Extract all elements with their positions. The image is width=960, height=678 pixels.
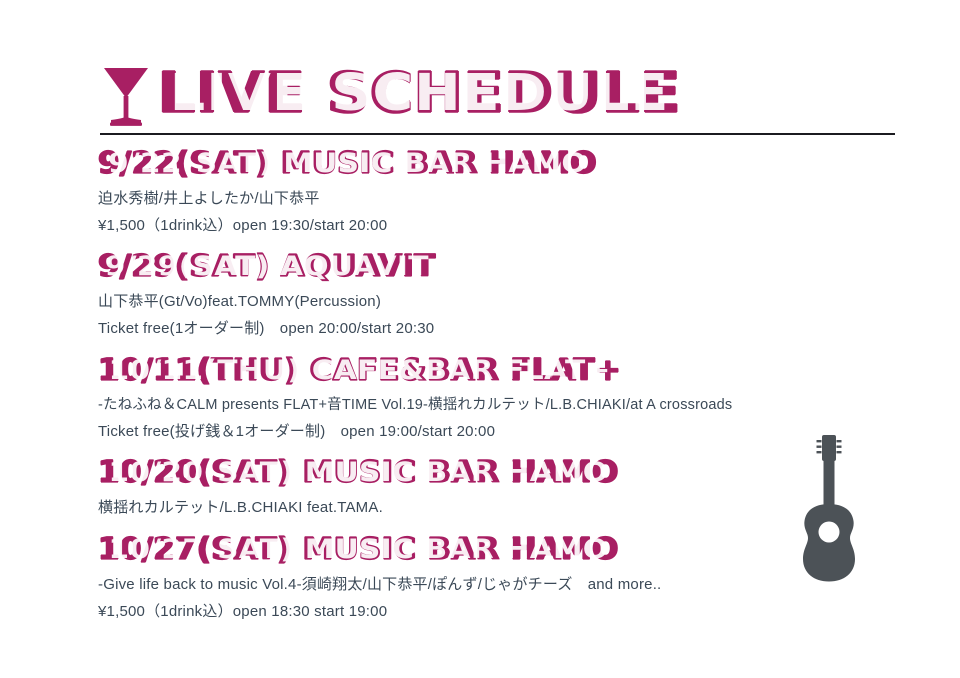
flyer-page: LIVE SCHEDULE LIVE SCHEDULE 9/22(SAT) MU… xyxy=(0,0,960,678)
event-details: 横揺れカルテット/L.B.CHIAKI feat.TAMA. xyxy=(98,495,908,522)
event-detail-line: ¥1,500（1drink込）open 18:30 start 19:00 xyxy=(98,599,908,626)
event-item: 9/22(SAT) MUSIC BAR HAMO 9/22(SAT) MUSIC… xyxy=(98,146,908,239)
event-detail-line: 山下恭平(Gt/Vo)feat.TOMMY(Percussion) xyxy=(98,289,908,316)
event-detail-line: 迫水秀樹/井上よしたか/山下恭平 xyxy=(98,186,908,213)
event-detail-line: ¥1,500（1drink込）open 19:30/start 20:00 xyxy=(98,213,908,240)
event-details: 迫水秀樹/井上よしたか/山下恭平 ¥1,500（1drink込）open 19:… xyxy=(98,186,908,239)
event-item: 10/11(THU) CAFE&BAR FLAT+ 10/11(THU) CAF… xyxy=(98,353,908,445)
event-title: 9/22(SAT) MUSIC BAR HAMO 9/22(SAT) MUSIC… xyxy=(98,146,932,184)
event-item: 9/29(SAT) AQUAVIT 9/29(SAT) AQUAVIT 山下恭平… xyxy=(98,249,908,342)
event-item: 10/27(SAT) MUSIC BAR HAMO 10/27(SAT) MUS… xyxy=(98,532,908,625)
header-row: LIVE SCHEDULE LIVE SCHEDULE xyxy=(100,55,895,133)
event-detail-line: -Give life back to music Vol.4-須崎翔太/山下恭平… xyxy=(98,572,908,599)
event-title: 10/11(THU) CAFE&BAR FLAT+ 10/11(THU) CAF… xyxy=(98,353,932,391)
event-detail-line: 横揺れカルテット/L.B.CHIAKI feat.TAMA. xyxy=(98,495,908,522)
event-title-text: 10/11(THU) CAFE&BAR FLAT+ xyxy=(98,353,621,388)
acoustic-guitar-icon xyxy=(793,432,865,587)
event-title: 9/29(SAT) AQUAVIT 9/29(SAT) AQUAVIT xyxy=(98,249,932,287)
event-details: -Give life back to music Vol.4-須崎翔太/山下恭平… xyxy=(98,572,908,625)
event-item: 10/20(SAT) MUSIC BAR HAMO 10/20(SAT) MUS… xyxy=(98,455,908,522)
page-title: LIVE SCHEDULE LIVE SCHEDULE xyxy=(158,66,681,122)
event-list: 9/22(SAT) MUSIC BAR HAMO 9/22(SAT) MUSIC… xyxy=(98,146,908,635)
martini-glass-icon xyxy=(100,58,152,130)
event-details: -たねふね＆CALM presents FLAT+音TIME Vol.19-横揺… xyxy=(98,393,908,445)
header-divider xyxy=(100,133,895,135)
event-detail-line: -たねふね＆CALM presents FLAT+音TIME Vol.19-横揺… xyxy=(98,393,908,419)
event-detail-line: Ticket free(投げ銭＆1オーダー制) open 19:00/start… xyxy=(98,419,908,446)
page-title-text: LIVE SCHEDULE xyxy=(158,61,681,126)
event-title-text: 9/29(SAT) AQUAVIT xyxy=(98,249,436,284)
header: LIVE SCHEDULE LIVE SCHEDULE xyxy=(100,55,895,140)
event-title-text: 10/27(SAT) MUSIC BAR HAMO xyxy=(98,532,619,567)
event-details: 山下恭平(Gt/Vo)feat.TOMMY(Percussion) Ticket… xyxy=(98,289,908,342)
event-detail-line: Ticket free(1オーダー制) open 20:00/start 20:… xyxy=(98,316,908,343)
event-title-text: 10/20(SAT) MUSIC BAR HAMO xyxy=(98,455,619,490)
event-title-text: 9/22(SAT) MUSIC BAR HAMO xyxy=(98,146,597,181)
